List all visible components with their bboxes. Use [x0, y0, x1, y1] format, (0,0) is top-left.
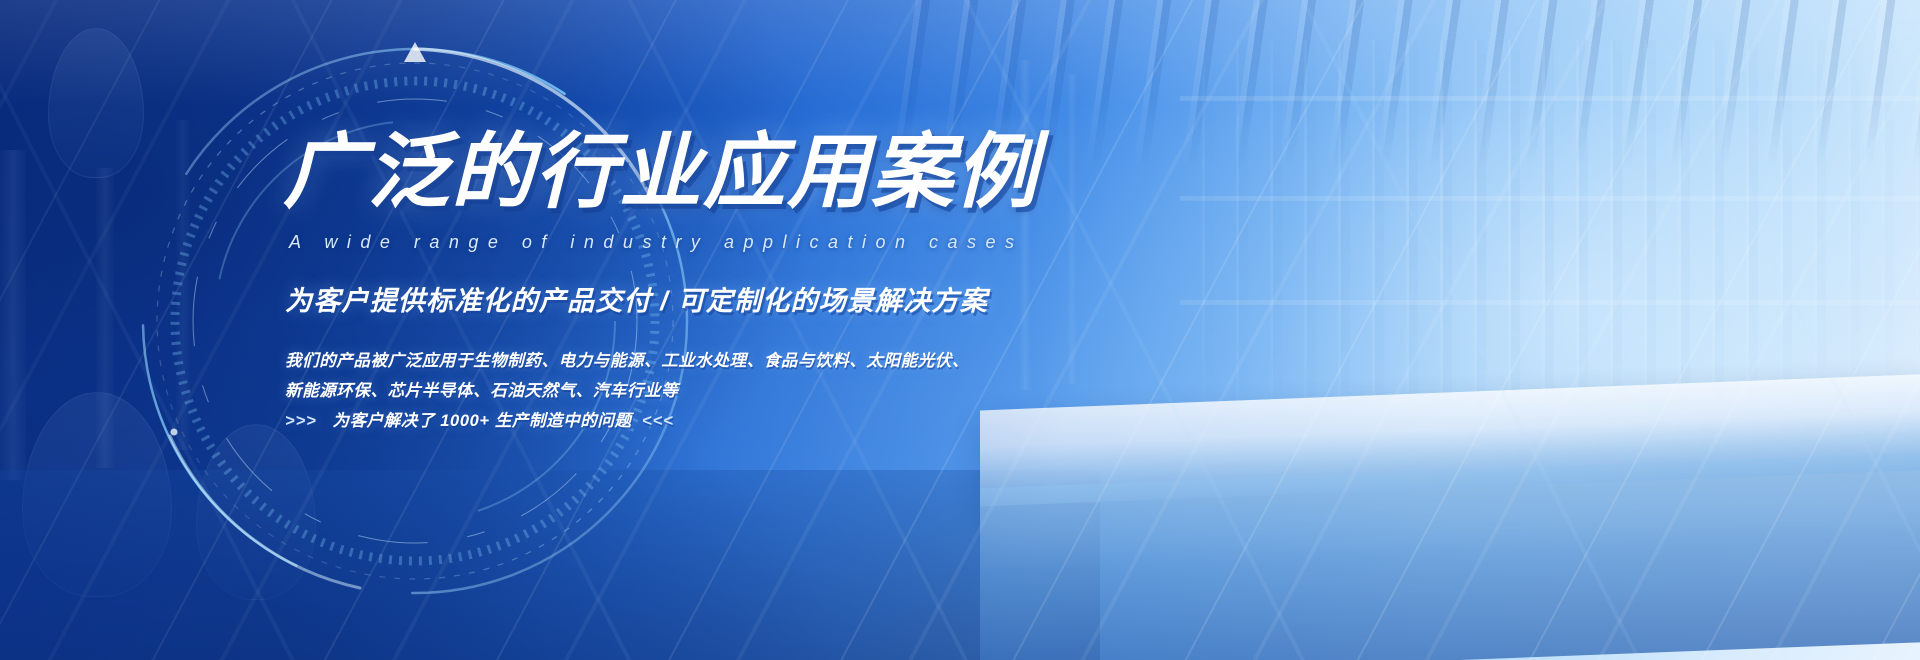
description-line-1: 我们的产品被广泛应用于生物制药、电力与能源、工业水处理、食品与饮料、太阳能光伏、: [285, 346, 1333, 376]
page-title: 广泛的行业应用案例: [283, 132, 1333, 214]
description-line-2: 新能源环保、芯片半导体、石油天然气、汽车行业等: [285, 376, 1333, 406]
hero-banner: 广泛的行业应用案例 A wide range of industry appli…: [0, 0, 1920, 660]
solved-count: 1000+: [440, 412, 489, 430]
english-subtitle: A wide range of industry application cas…: [289, 232, 1333, 253]
column-pipe: [96, 168, 114, 468]
description-block: 我们的产品被广泛应用于生物制药、电力与能源、工业水处理、食品与饮料、太阳能光伏、…: [285, 346, 1333, 436]
arrows-left-icon: >>>: [285, 412, 317, 430]
floor-surface: [0, 470, 1100, 660]
highlight-line: >>> 为客户解决了 1000+ 生产制造中的问题 <<<: [285, 406, 1333, 436]
banner-content: 广泛的行业应用案例 A wide range of industry appli…: [283, 132, 1333, 436]
column-pipe: [0, 150, 26, 480]
rack-shelf: [1180, 96, 1920, 100]
banner-subtitle: 为客户提供标准化的产品交付 / 可定制化的场景解决方案: [285, 279, 1333, 318]
highlight-prefix: 为客户解决了: [332, 412, 435, 430]
highlight-suffix: 生产制造中的问题: [495, 412, 632, 430]
column-pipe: [176, 120, 190, 450]
lab-counter-front: [980, 452, 1920, 660]
arrows-right-icon: <<<: [642, 412, 674, 430]
